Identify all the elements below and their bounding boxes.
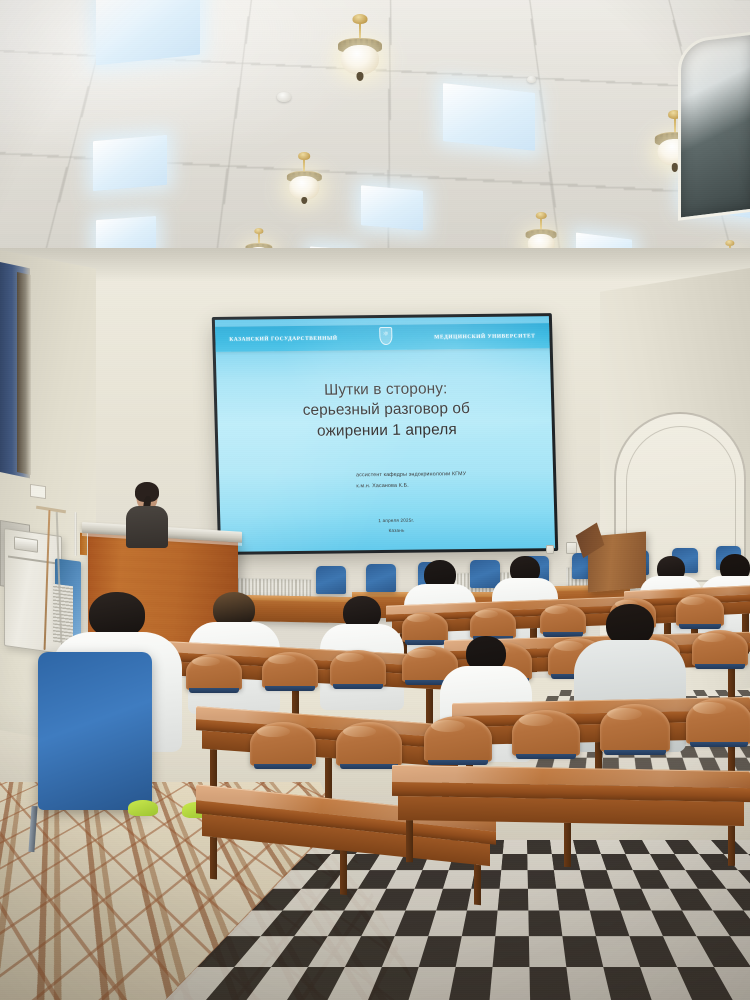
arched-window-glass [678, 31, 750, 221]
chandelier-canopy [536, 212, 547, 219]
blue-front-row-chair[interactable] [316, 566, 346, 594]
slide-author-block: ассистент кафедры эндокринологии КГМУ к.… [356, 468, 532, 492]
desk-leg [210, 837, 217, 880]
auditorium-seat[interactable] [262, 652, 318, 688]
chandelier-finial [671, 163, 677, 171]
seat-highlight [407, 614, 430, 622]
seat-highlight [475, 610, 498, 618]
seat-highlight [268, 655, 296, 664]
wall-mount-bracket [30, 484, 46, 499]
slide-city: Казань [238, 524, 554, 538]
seat-highlight [519, 714, 553, 726]
seat-highlight [343, 726, 376, 737]
seat-highlight [192, 657, 220, 666]
chandelier-glass-bowl [341, 45, 379, 75]
student-shoe [128, 800, 158, 816]
desk-leg [728, 826, 735, 866]
auditorium-seat[interactable] [424, 716, 492, 762]
desk-leg [474, 864, 481, 905]
pendant-chandelier [281, 152, 328, 222]
chandelier-canopy [254, 228, 263, 234]
chandelier-canopy [725, 240, 734, 246]
student-desk-row [392, 765, 750, 866]
slide-title: Шутки в сторону: серьезный разговор об о… [243, 378, 531, 443]
side-lectern[interactable] [588, 531, 646, 592]
university-crest-logo: ⚛ [379, 327, 392, 345]
auditorium-seat[interactable] [512, 710, 580, 756]
desk-leg [325, 758, 332, 803]
cabinet-vent [14, 536, 38, 552]
auditorium-seat[interactable] [186, 654, 242, 690]
seat-highlight [693, 702, 726, 714]
slide-author-name: к.м.н. Хасанова К.Б. [356, 479, 531, 492]
slide-header-banner: КАЗАНСКИЙ ГОСУДАРСТВЕННЫЙ ⚛ МЕДИЦИНСКИЙ … [215, 323, 550, 352]
chandelier-finial [357, 72, 364, 81]
projection-screen[interactable]: КАЗАНСКИЙ ГОСУДАРСТВЕННЫЙ ⚛ МЕДИЦИНСКИЙ … [215, 316, 555, 552]
chandelier-rod [540, 218, 542, 229]
seat-highlight [336, 653, 364, 662]
auditorium-seat[interactable] [336, 722, 402, 766]
smoke-detector-icon [527, 76, 536, 83]
chandelier-rod [258, 233, 260, 243]
auditorium-seat[interactable] [692, 630, 748, 666]
speaker-torso [126, 506, 168, 548]
seat-highlight [408, 649, 436, 658]
recessed-led-panel-icon [93, 135, 167, 191]
recessed-led-panel-icon [96, 0, 200, 65]
auditorium-seat[interactable] [250, 722, 316, 766]
seat-highlight [607, 708, 642, 720]
chandelier-rod [303, 158, 305, 170]
chandelier-finial [302, 197, 307, 204]
seat-highlight [545, 606, 568, 614]
slide-footer-block: 1 апреля 2025г. Казань [220, 514, 555, 538]
slide-title-line-3: ожирении 1 апреля [244, 419, 531, 443]
pendant-chandelier [330, 14, 390, 104]
desk-leg [564, 823, 571, 867]
presentation-slide: КАЗАНСКИЙ ГОСУДАРСТВЕННЫЙ ⚛ МЕДИЦИНСКИЙ … [215, 316, 555, 552]
smoke-detector-icon [277, 92, 291, 102]
wall-pipe [74, 512, 77, 556]
chandelier-glass-bowl [290, 176, 320, 199]
desk-leg [340, 850, 347, 895]
wall-top-shadow [0, 248, 750, 282]
wall-switch-box [546, 545, 554, 554]
blue-front-row-chair[interactable] [366, 564, 396, 592]
desk-leg [406, 820, 413, 862]
left-door-edge [17, 272, 31, 475]
auditorium-seat[interactable] [686, 698, 750, 744]
desk-apron-panel [398, 796, 744, 826]
auditorium-seat[interactable] [600, 704, 670, 752]
seat-highlight [698, 633, 726, 642]
chandelier-rod [674, 117, 676, 132]
chandelier-canopy [299, 152, 311, 160]
recessed-led-panel-icon [443, 83, 535, 151]
speaker-at-lectern [118, 484, 176, 546]
auditorium-seat[interactable] [470, 608, 516, 638]
lecture-hall-photo: КАЗАНСКИЙ ГОСУДАРСТВЕННЫЙ ⚛ МЕДИЦИНСКИЙ … [0, 0, 750, 1000]
banner-right-text: МЕДИЦИНСКИЙ УНИВЕРСИТЕТ [434, 333, 535, 340]
blue-front-row-chair[interactable] [38, 652, 152, 810]
seat-highlight [257, 726, 290, 737]
recessed-led-panel-icon [361, 185, 423, 230]
banner-left-text: КАЗАНСКИЙ ГОСУДАРСТВЕННЫЙ [229, 335, 337, 342]
auditorium-seat[interactable] [330, 650, 386, 686]
cabinet-seam [8, 556, 58, 565]
chandelier-canopy [353, 14, 368, 24]
chandelier-rod [359, 22, 361, 38]
seat-highlight [431, 720, 465, 732]
